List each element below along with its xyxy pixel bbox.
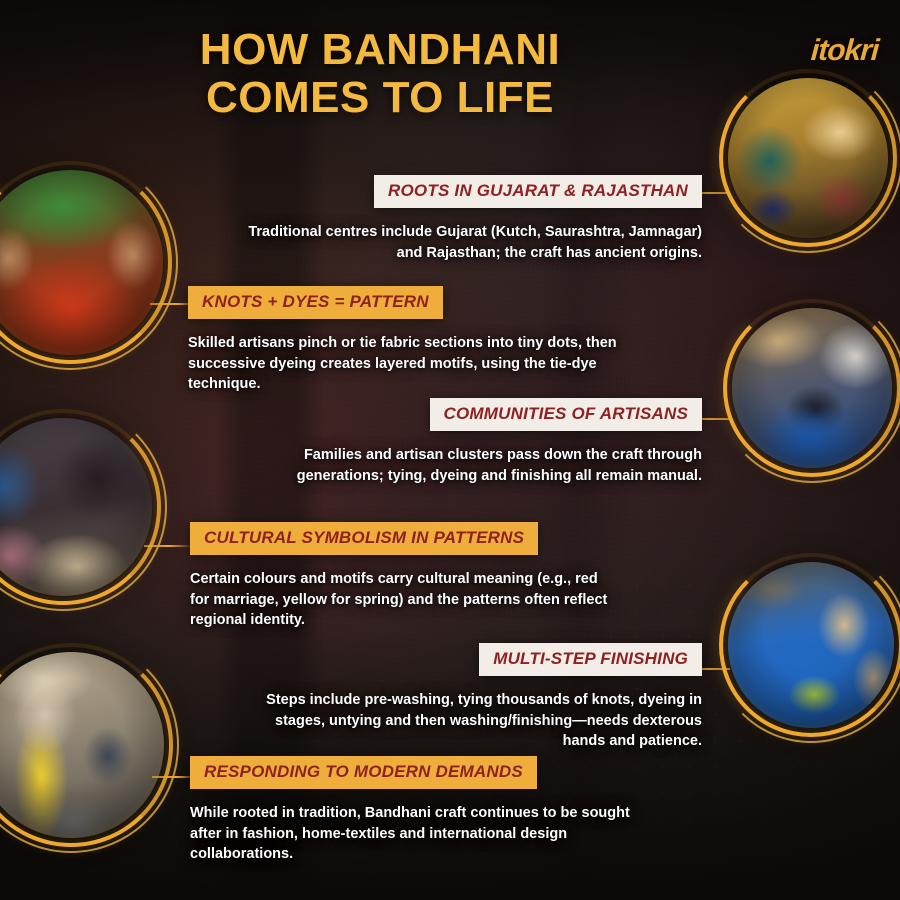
brand-logo[interactable]: itokri [809,34,879,68]
photo-shade [728,78,888,238]
section-heading: ROOTS IN GUJARAT & RAJASTHAN [374,175,702,208]
photo-shade [0,652,164,838]
title-line-2: COMES TO LIFE [0,74,760,122]
photo-medallion-dyer-at-blue-vat [732,308,892,468]
section-multi-step-finishing: MULTI-STEP FINISHING Steps include pre-w… [262,643,702,752]
section-responding-to-modern-demands: RESPONDING TO MODERN DEMANDS While roote… [190,756,650,865]
section-heading: RESPONDING TO MODERN DEMANDS [190,756,537,789]
title-line-1: HOW BANDHANI [200,25,560,74]
connector-line-4 [144,545,190,547]
photo-medallion-two-women-tying-fabric [728,78,888,238]
section-body: Families and artisan clusters pass down … [250,445,702,486]
section-cultural-symbolism-in-patterns: CULTURAL SYMBOLISM IN PATTERNS Certain c… [190,522,620,631]
section-body: Skilled artisans pinch or tie fabric sec… [188,333,636,395]
photo-medallion-cloth-bundles-dipping-blue-dye [728,562,894,728]
photo-image [0,418,152,596]
photo-image [0,170,163,355]
section-heading: MULTI-STEP FINISHING [479,643,702,676]
photo-medallion-dyer-lifting-yellow-cloth [0,652,164,838]
photo-shade [0,170,163,355]
photo-medallion-women-knotting-cream-cloth [0,418,152,596]
photo-medallion-hands-tying-red-dyed-cloth [0,170,163,355]
photo-shade [728,562,894,728]
photo-image [732,308,892,468]
photo-shade [0,418,152,596]
photo-image [728,78,888,238]
section-heading: CULTURAL SYMBOLISM IN PATTERNS [190,522,538,555]
section-body: Traditional centres include Gujarat (Kut… [240,222,702,263]
section-knots-dyes-pattern: KNOTS + DYES = PATTERN Skilled artisans … [188,286,636,395]
section-heading: KNOTS + DYES = PATTERN [188,286,443,319]
section-roots-in-gujarat-rajasthan: ROOTS IN GUJARAT & RAJASTHAN Traditional… [240,175,702,263]
page-title: HOW BANDHANI COMES TO LIFE [0,26,760,121]
section-body: While rooted in tradition, Bandhani craf… [190,803,650,865]
section-body: Certain colours and motifs carry cultura… [190,569,620,631]
section-heading: COMMUNITIES OF ARTISANS [430,398,703,431]
infographic-poster: itokri HOW BANDHANI COMES TO LIFE [0,0,900,900]
photo-image [0,652,164,838]
photo-shade [732,308,892,468]
section-body: Steps include pre-washing, tying thousan… [262,690,702,752]
section-communities-of-artisans: COMMUNITIES OF ARTISANS Families and art… [250,398,702,486]
photo-image [728,562,894,728]
